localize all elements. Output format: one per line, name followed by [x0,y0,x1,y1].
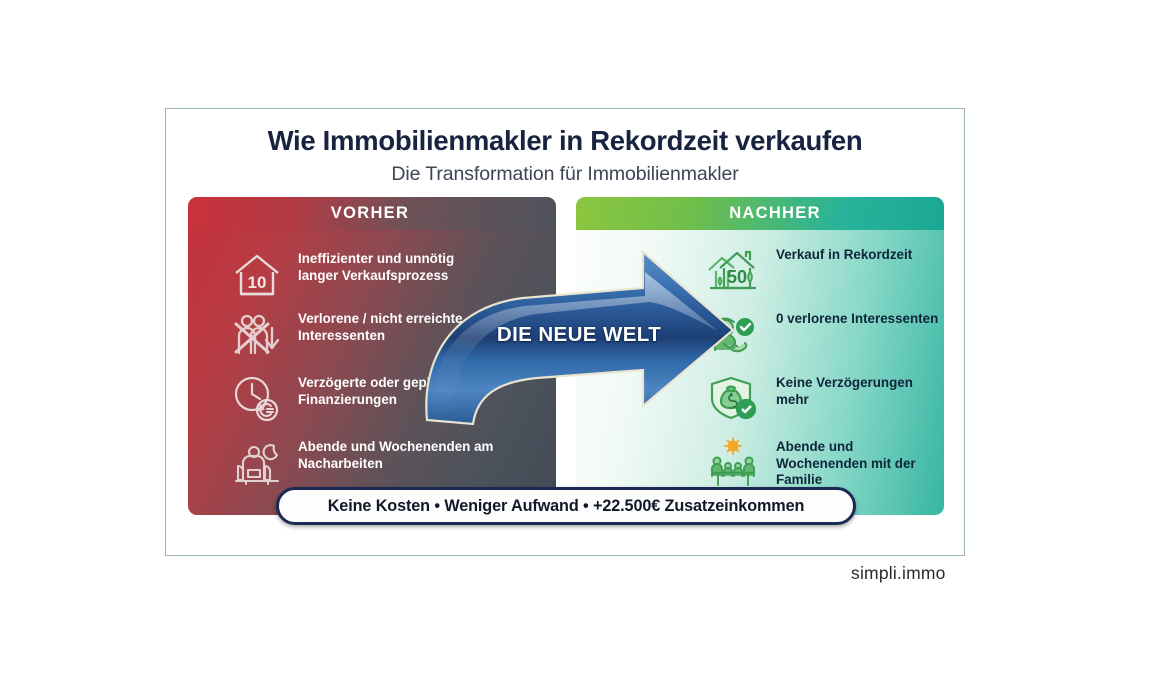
panel-before-body: 10 Ineffizienter und unnötig langer Verk… [188,230,556,515]
list-item-label: Keine Verzögerungen mehr [776,372,941,408]
list-item: 50 Verkauf in Rekordzeit [706,244,941,298]
page-subtitle: Die Transformation für Immobilienmakler [166,163,964,186]
infographic-canvas: Wie Immobilienmakler in Rekordzeit verka… [0,0,1160,675]
house-50-icon: 50 [706,244,760,298]
status-banner-text: Keine Kosten • Weniger Aufwand • +22.500… [328,497,805,516]
list-item-label: Ineffizienter und unnötig langer Verkauf… [298,248,498,284]
list-item: 0 verlorene Interessenten [706,308,941,362]
panel-before: VORHER 10 Ineffizienter [188,197,556,515]
handshake-check-icon [706,308,760,362]
list-item: 10 Ineffizienter und unnötig langer Verk… [230,248,498,302]
svg-text:50: 50 [727,267,747,287]
list-item-label: Verzögerte oder geplatzte Finanzierungen [298,372,498,408]
list-item: Verlorene / nicht erreichte Interessente… [230,308,498,362]
list-item: Abende und Wochenenden mit der Familie [706,436,941,490]
shield-money-check-icon [706,372,760,426]
panel-after: NACHHER [576,197,944,515]
list-item-label: Verkauf in Rekordzeit [776,244,941,264]
list-item-label: Abende und Wochenenden am Nacharbeiten [298,436,498,472]
night-overtime-laptop-icon [230,436,284,490]
panel-after-header-label: NACHHER [729,204,821,223]
brand-footer: simpli.immo [851,563,946,584]
house-10-icon: 10 [230,248,284,302]
family-table-sun-icon [706,436,760,490]
svg-text:10: 10 [248,273,267,292]
page-title: Wie Immobilienmakler in Rekordzeit verka… [166,125,964,157]
list-item: Keine Verzögerungen mehr [706,372,941,426]
lost-leads-crossed-icon [230,308,284,362]
status-banner: Keine Kosten • Weniger Aufwand • +22.500… [276,487,856,525]
list-item-label: 0 verlorene Interessenten [776,308,941,328]
clock-euro-delay-icon [230,372,284,426]
infographic-card: Wie Immobilienmakler in Rekordzeit verka… [165,108,965,556]
panel-after-header: NACHHER [576,197,944,230]
panel-before-header: VORHER [188,197,556,230]
list-item-label: Abende und Wochenenden mit der Familie [776,436,941,489]
list-item: Verzögerte oder geplatzte Finanzierungen [230,372,498,426]
arrow-label: DIE NEUE WELT [464,323,694,347]
panel-before-header-label: VORHER [331,204,409,223]
panel-after-body: 50 Verkauf in Rekordzeit [576,230,944,515]
list-item: Abende und Wochenenden am Nacharbeiten [230,436,498,490]
